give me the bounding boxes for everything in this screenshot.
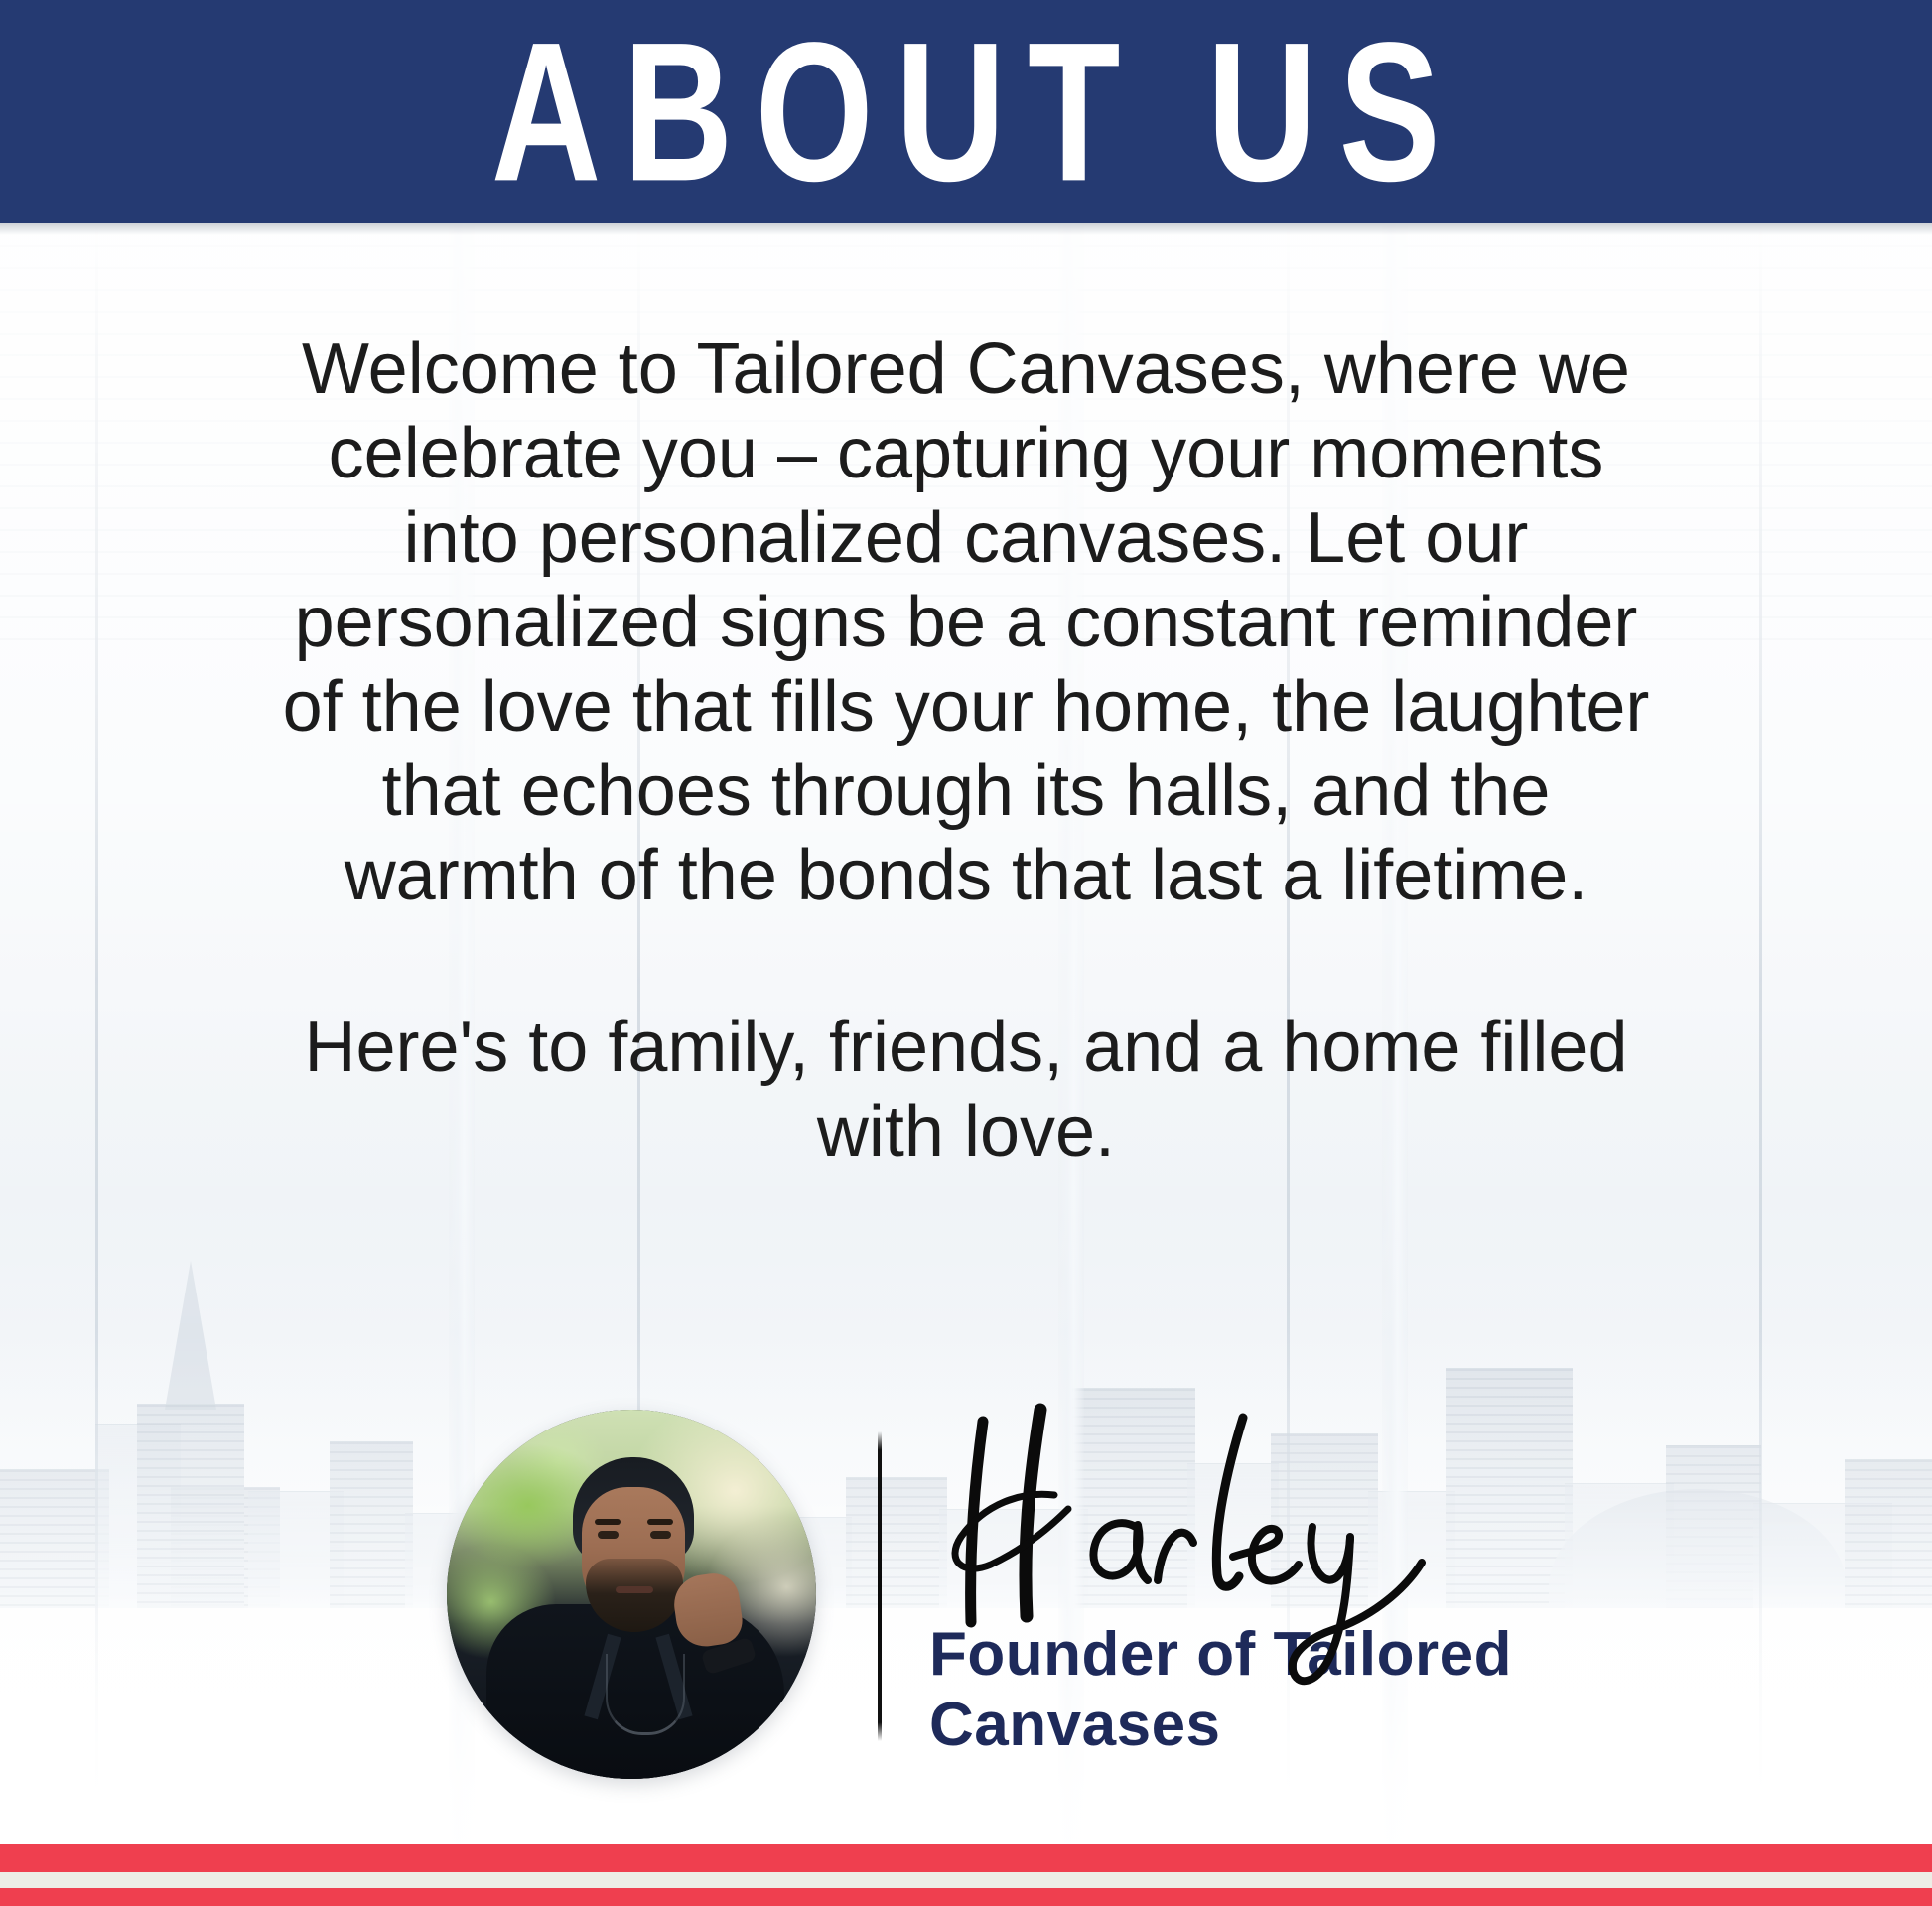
founder-title: Founder of Tailored Canvases: [929, 1620, 1565, 1760]
paragraph-closing: Here's to family, friends, and a home fi…: [261, 1006, 1671, 1174]
signature-divider: [878, 1431, 882, 1741]
banner-drop-shadow: [0, 223, 1932, 235]
header-banner: ABOUT US: [0, 0, 1932, 223]
footer-stripe-gap: [0, 1872, 1932, 1888]
founder-title-line-2: Canvases: [929, 1691, 1565, 1761]
avatar-photo: [447, 1410, 816, 1779]
avatar: [447, 1410, 816, 1779]
about-us-copy: Welcome to Tailored Canvases, where we c…: [261, 328, 1671, 1174]
footer-stripe-top: [0, 1844, 1932, 1872]
about-us-poster: ABOUT US Welcome to Tailored Canvases, w…: [0, 0, 1932, 1906]
page-title: ABOUT US: [470, 13, 1463, 210]
paragraph-intro: Welcome to Tailored Canvases, where we c…: [261, 328, 1671, 918]
founder-title-line-1: Founder of Tailored: [929, 1620, 1565, 1691]
footer-stripe-bottom: [0, 1888, 1932, 1906]
paragraph-spacer: [261, 918, 1671, 1006]
